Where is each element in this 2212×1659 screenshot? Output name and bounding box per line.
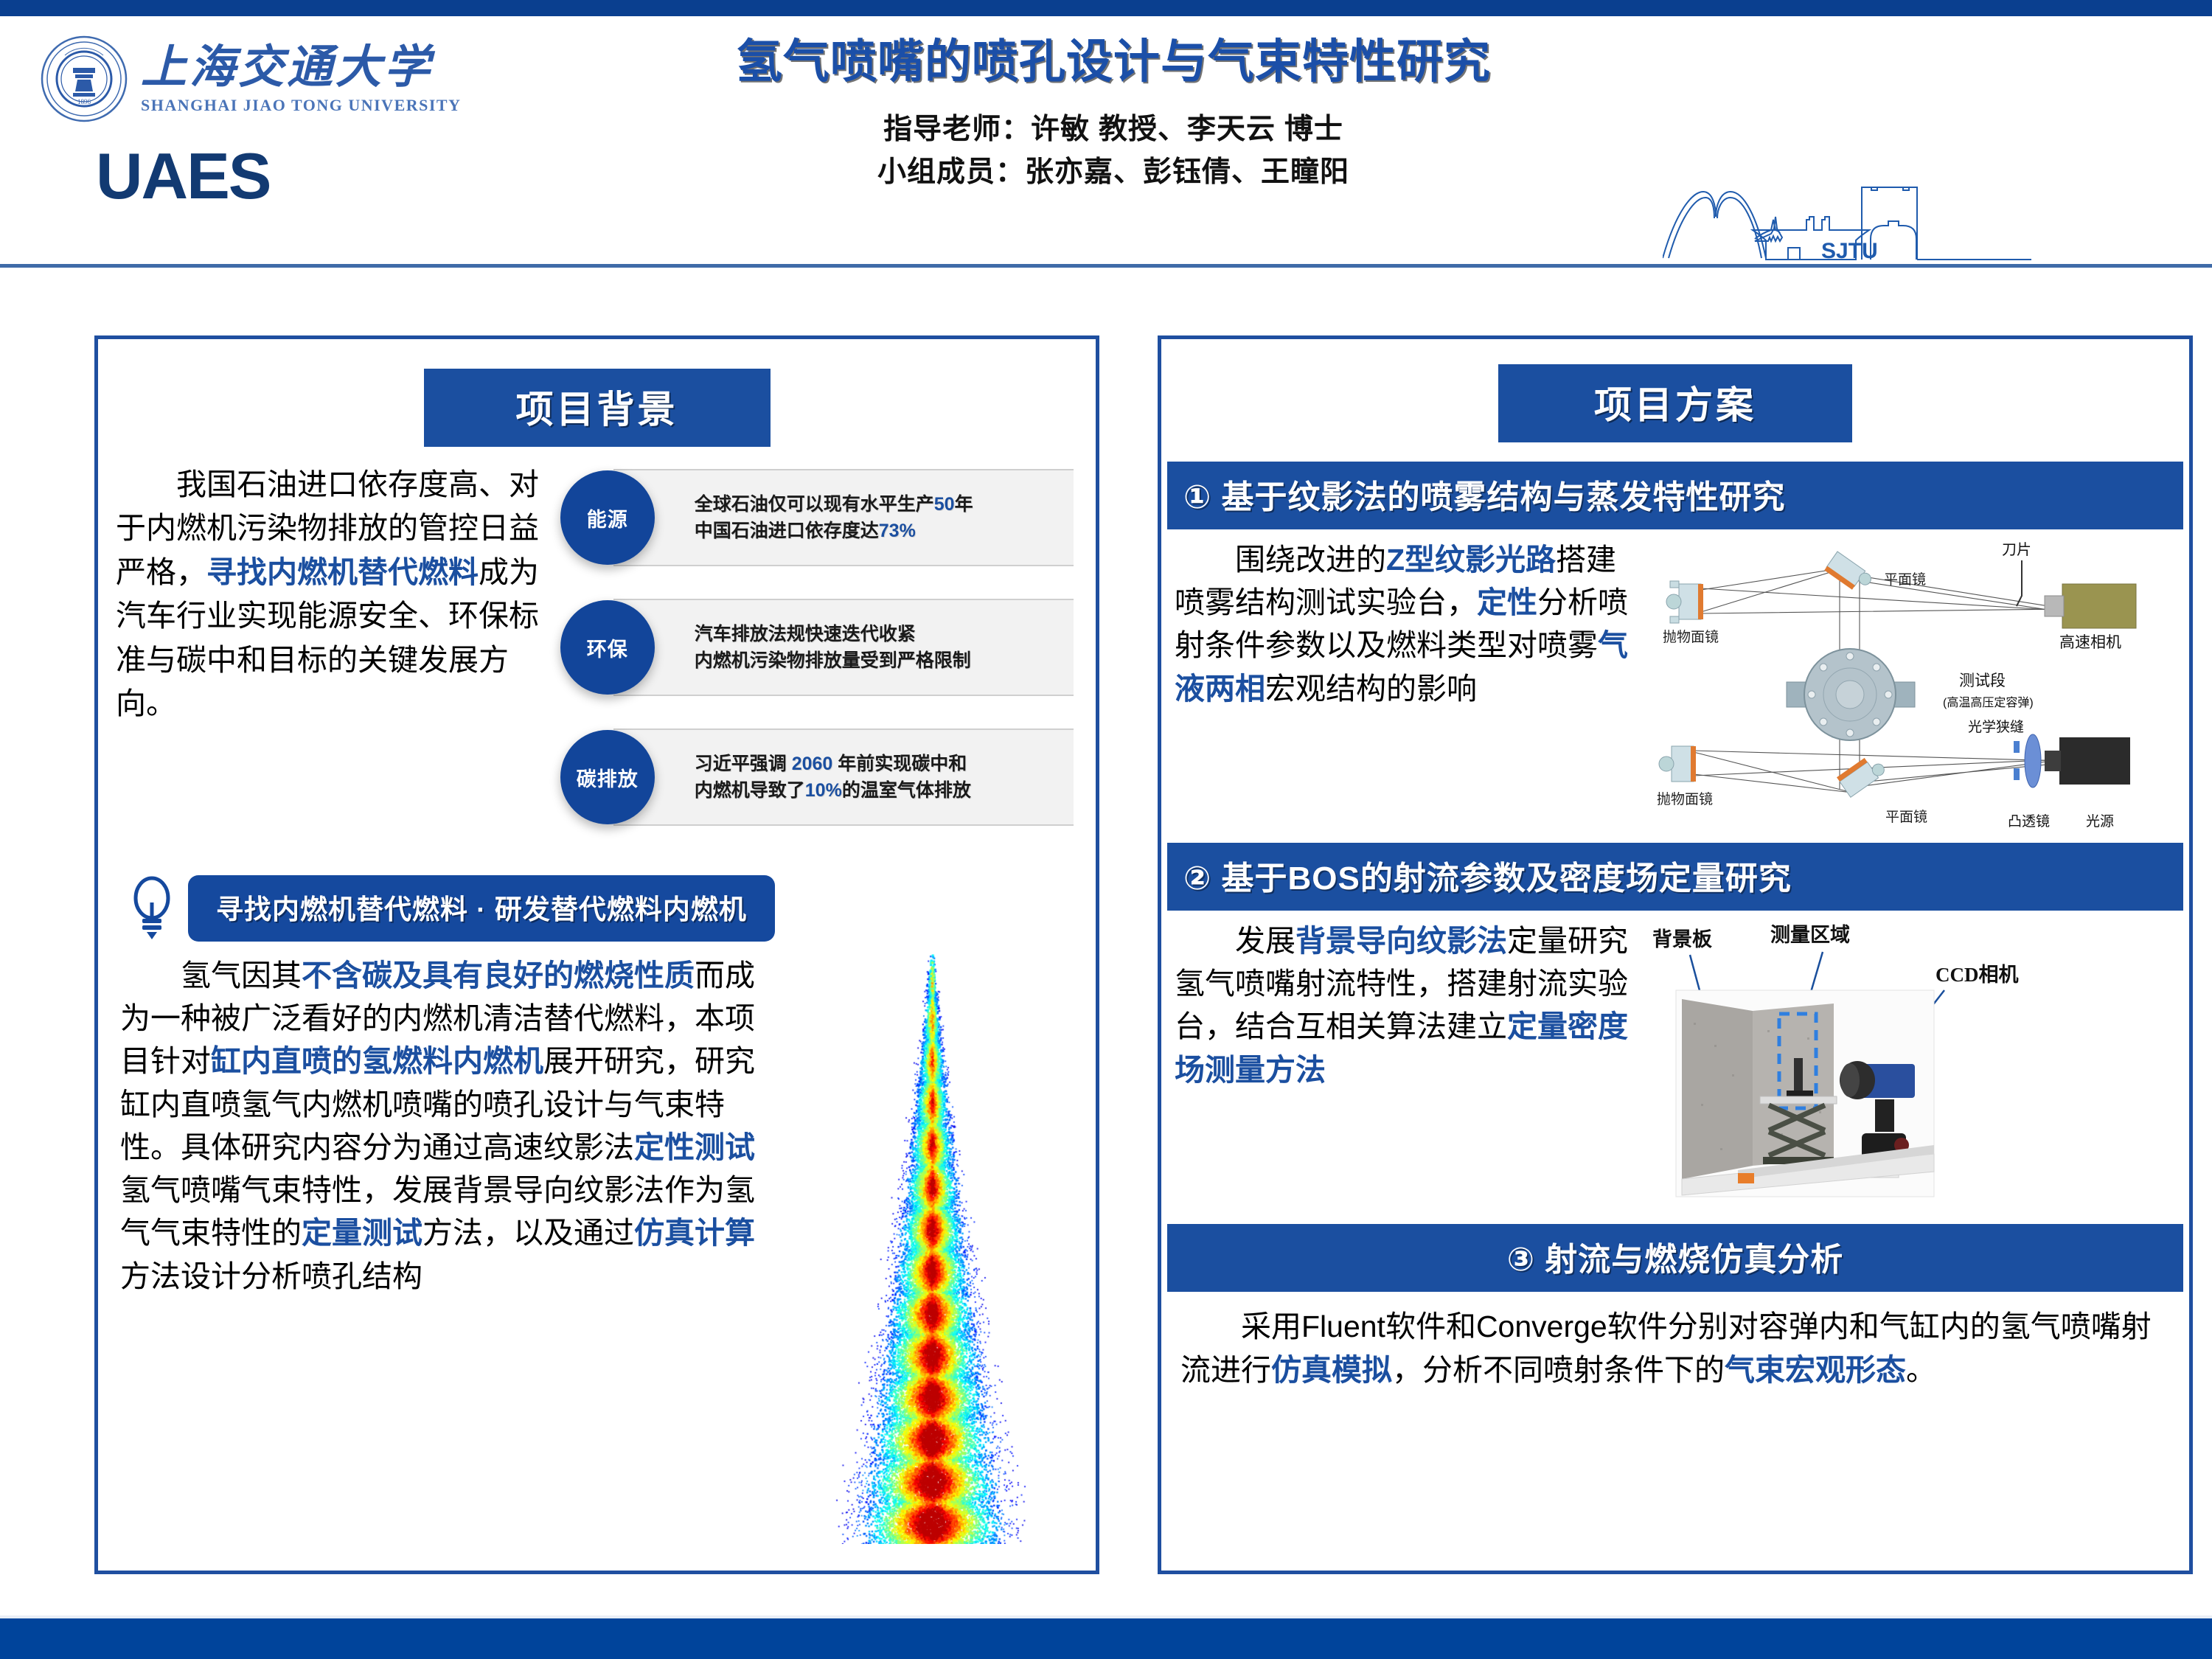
- left-column-panel: 项目背景 我国石油进口依存度高、对于内燃机污染物排放的管控日益严格，寻找内燃机替…: [94, 335, 1099, 1574]
- summary-text: 方法设计分析喷孔结构: [120, 1259, 422, 1293]
- right-column-panel: 项目方案 ① 基于纹影法的喷雾结构与蒸发特性研究 围绕改进的Z型纹影光路搭建喷雾…: [1158, 335, 2193, 1574]
- sec1-highlight: Z型纹影光路: [1386, 543, 1556, 577]
- top-accent-bar: [0, 0, 2212, 16]
- stat-line-text: 内燃机污染物排放量受到严格限制: [695, 650, 971, 671]
- research-summary-section: 氢气因其不含碳及具有良好的燃烧性质而成为一种被广泛看好的内燃机清洁替代燃料，本项…: [98, 944, 1096, 1544]
- stat-badge-line-1: 汽车排放法规快速迭代收紧: [695, 625, 1074, 644]
- section-1-bar: ① 基于纹影法的喷雾结构与蒸发特性研究: [1167, 462, 2183, 529]
- svg-text:SJTU: SJTU: [1821, 239, 1878, 263]
- stat-badge-label: 能源: [560, 470, 655, 565]
- section-3-bar: ③ 射流与燃烧仿真分析: [1167, 1224, 2183, 1292]
- sec1-highlight: 定性: [1477, 585, 1537, 619]
- background-paragraph: 我国石油进口依存度高、对于内燃机污染物排放的管控日益严格，寻找内燃机替代燃料成为…: [116, 463, 556, 858]
- stat-line-number: 10%: [805, 780, 842, 801]
- sec3-highlight: 仿真模拟: [1271, 1353, 1392, 1387]
- stat-line-text: 内燃机导致了: [695, 780, 805, 801]
- schlieren-setup-diagram: 抛物面镜 平面镜 刀片 高速相机: [1649, 538, 2179, 837]
- sec3-text: 。: [1906, 1353, 1936, 1387]
- sjtu-wordmark: 上海交通大学 SHANGHAI JIAO TONG UNIVERSITY: [141, 45, 462, 114]
- sec2-highlight: 背景导向纹影法: [1295, 924, 1507, 958]
- svg-text:CCD相机: CCD相机: [1935, 964, 2019, 986]
- section-1-paragraph: 围绕改进的Z型纹影光路搭建喷雾结构测试实验台，定性分析喷射条件参数以及燃料类型对…: [1175, 538, 1646, 837]
- stat-badge-line-1: 习近平强调 2060 年前实现碳中和: [695, 754, 1074, 773]
- sjtu-name-cn: 上海交通大学: [141, 45, 462, 91]
- stat-badge-list: 全球石油仅可以现有水平生产50年 中国石油进口依存度达73% 能源 汽车排放法规…: [560, 463, 1074, 858]
- stat-badge-line-2: 内燃机污染物排放量受到严格限制: [695, 651, 1074, 670]
- sec1-text: 围绕改进的: [1235, 543, 1386, 577]
- bos-rig-photo: 背景板 测量区域 CCD相机: [1649, 919, 2179, 1218]
- stat-line-text: 中国石油进口依存度达: [695, 521, 879, 541]
- stat-badge-label: 环保: [560, 600, 655, 695]
- stat-badge: 汽车排放法规快速迭代收紧 内燃机污染物排放量受到严格限制 环保: [560, 599, 1074, 696]
- stat-line-number: 73%: [879, 521, 916, 541]
- stat-line-number: 50: [934, 494, 955, 515]
- stat-badge-card: 全球石油仅可以现有水平生产50年 中国石油进口依存度达73%: [613, 469, 1074, 566]
- stat-badge: 习近平强调 2060 年前实现碳中和 内燃机导致了10%的温室气体排放 碳排放: [560, 728, 1074, 826]
- sec3-highlight: 气束宏观形态: [1725, 1353, 1906, 1387]
- svg-text:平面镜: 平面镜: [1884, 571, 1926, 588]
- section-2-body: 发展背景导向纹影法定量研究氢气喷嘴射流特性，搭建射流实验台，结合互相关算法建立定…: [1161, 911, 2189, 1224]
- right-panel-title: 项目方案: [1498, 364, 1852, 442]
- svg-text:测试段: 测试段: [1959, 672, 2006, 689]
- sjtu-name-en: SHANGHAI JIAO TONG UNIVERSITY: [141, 97, 462, 114]
- research-summary-paragraph: 氢气因其不含碳及具有良好的燃烧性质而成为一种被广泛看好的内燃机清洁替代燃料，本项…: [120, 954, 776, 1544]
- stat-badge: 全球石油仅可以现有水平生产50年 中国石油进口依存度达73% 能源: [560, 469, 1074, 566]
- stat-line-tail: 年前实现碳中和: [832, 754, 967, 774]
- svg-text:测量区域: 测量区域: [1770, 924, 1850, 946]
- stat-line-tail: 的温室气体排放: [842, 780, 971, 801]
- lightbulb-icon: [128, 873, 176, 944]
- sec3-text: ，分析不同喷射条件下的: [1392, 1353, 1725, 1387]
- footer-accent-bar: [0, 1618, 2212, 1659]
- section-2-paragraph: 发展背景导向纹影法定量研究氢气喷嘴射流特性，搭建射流实验台，结合互相关算法建立定…: [1175, 919, 1646, 1218]
- svg-text:抛物面镜: 抛物面镜: [1657, 791, 1713, 807]
- stat-line-text: 习近平强调: [695, 754, 792, 774]
- sec2-text: 发展: [1235, 924, 1295, 958]
- background-highlight-1: 寻找内燃机替代燃料: [206, 555, 479, 589]
- poster-title: 氢气喷嘴的喷孔设计与气束特性研究: [560, 35, 1666, 88]
- title-block: 氢气喷嘴的喷孔设计与气束特性研究 指导老师：许敏 教授、李天云 博士 小组成员：…: [560, 35, 1666, 192]
- svg-text:光学狭缝: 光学狭缝: [1968, 719, 2024, 735]
- key-idea-banner: 寻找内燃机替代燃料 · 研发替代燃料内燃机: [188, 875, 775, 942]
- section-3-paragraph: 采用Fluent软件和Converge软件分别对容弹内和气缸内的氢气喷嘴射流进行…: [1161, 1292, 2189, 1393]
- section-2-bar: ② 基于BOS的射流参数及密度场定量研究: [1167, 843, 2183, 911]
- hydrogen-jet-simulation-figure: [776, 954, 1086, 1544]
- jet-plume-canvas: [810, 954, 1053, 1544]
- summary-highlight: 仿真计算: [634, 1216, 755, 1250]
- members-line: 小组成员：张亦嘉、彭钰倩、王瞳阳: [560, 152, 1666, 192]
- uaes-logo: UAES: [96, 144, 271, 209]
- svg-text:(高温高压定容弹): (高温高压定容弹): [1943, 696, 2034, 709]
- svg-text:抛物面镜: 抛物面镜: [1663, 629, 1719, 645]
- stat-badge-card: 习近平强调 2060 年前实现碳中和 内燃机导致了10%的温室气体排放: [613, 728, 1074, 826]
- sjtu-gate-icon: SJTU: [1663, 171, 2031, 267]
- poster-root: 1896 上海交通大学 SHANGHAI JIAO TONG UNIVERSIT…: [0, 0, 2212, 1659]
- summary-highlight: 定量测试: [302, 1216, 422, 1250]
- stat-line-tail: 年: [955, 494, 973, 515]
- sjtu-seal-icon: 1896: [41, 35, 128, 122]
- stat-badge-line-2: 内燃机导致了10%的温室气体排放: [695, 781, 1074, 800]
- key-idea-banner-row: 寻找内燃机替代燃料 · 研发替代燃料内燃机: [128, 873, 1096, 944]
- svg-text:背景板: 背景板: [1652, 928, 1712, 950]
- svg-text:刀片: 刀片: [2002, 541, 2031, 558]
- stat-line-text: 全球石油仅可以现有水平生产: [695, 494, 934, 515]
- summary-text: 氢气因其: [181, 959, 302, 992]
- summary-highlight: 缸内直喷的氢燃料内燃机: [211, 1044, 543, 1078]
- stat-badge-card: 汽车排放法规快速迭代收紧 内燃机污染物排放量受到严格限制: [613, 599, 1074, 696]
- stat-badge-label: 碳排放: [560, 730, 655, 824]
- svg-text:1896: 1896: [77, 98, 91, 105]
- summary-text: 方法，以及通过: [422, 1216, 634, 1250]
- left-panel-title: 项目背景: [424, 369, 771, 447]
- svg-text:平面镜: 平面镜: [1885, 809, 1927, 825]
- section-1-body: 围绕改进的Z型纹影光路搭建喷雾结构测试实验台，定性分析喷射条件参数以及燃料类型对…: [1161, 529, 2189, 843]
- svg-text:光源: 光源: [2086, 813, 2114, 829]
- stat-badge-line-2: 中国石油进口依存度达73%: [695, 521, 1074, 540]
- sec1-text: 宏观结构的影响: [1265, 672, 1477, 706]
- svg-text:凸透镜: 凸透镜: [2008, 813, 2050, 829]
- svg-text:高速相机: 高速相机: [2059, 634, 2121, 651]
- summary-highlight: 不含碳及具有良好的燃烧性质: [302, 959, 695, 992]
- stat-line-number: 2060: [792, 754, 833, 774]
- stat-badge-line-1: 全球石油仅可以现有水平生产50年: [695, 495, 1074, 514]
- stat-line-text: 汽车排放法规快速迭代收紧: [695, 624, 916, 644]
- background-section: 我国石油进口依存度高、对于内燃机污染物排放的管控日益严格，寻找内燃机替代燃料成为…: [98, 447, 1096, 858]
- summary-highlight: 定性测试: [634, 1130, 755, 1164]
- sjtu-logo: 1896 上海交通大学 SHANGHAI JIAO TONG UNIVERSIT…: [41, 35, 462, 122]
- advisor-line: 指导老师：许敏 教授、李天云 博士: [560, 109, 1666, 150]
